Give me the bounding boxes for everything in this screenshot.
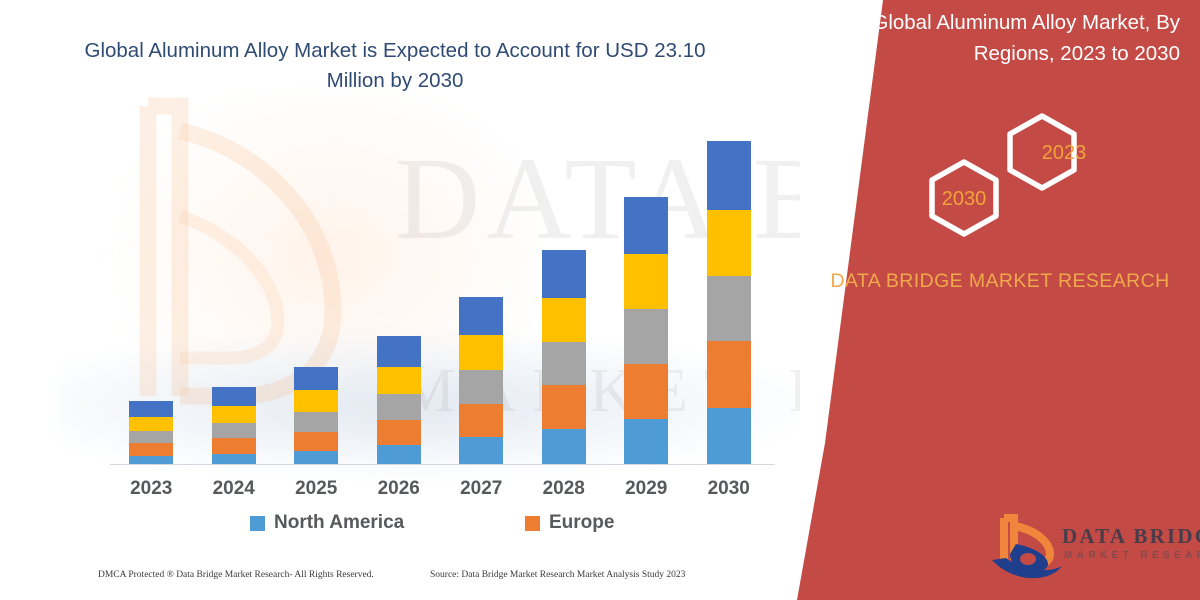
bar-segment-series-5 bbox=[707, 141, 751, 210]
legend-item-north-america[interactable]: North America bbox=[250, 512, 404, 534]
legend-label: North America bbox=[274, 512, 404, 534]
bar-segment-north-america bbox=[294, 451, 338, 465]
bar-segment-europe bbox=[707, 341, 751, 408]
chart-legend: North AmericaEurope bbox=[110, 512, 770, 540]
x-tick-2029: 2029 bbox=[606, 478, 686, 500]
bar-segment-series-3 bbox=[129, 431, 173, 444]
bar-segment-series-5 bbox=[294, 367, 338, 391]
bar-segment-europe bbox=[294, 432, 338, 452]
bar-segment-north-america bbox=[707, 408, 751, 465]
bar-segment-series-4 bbox=[459, 335, 503, 370]
bar-segment-series-3 bbox=[624, 309, 668, 363]
x-tick-2028: 2028 bbox=[524, 478, 604, 500]
bar-segment-europe bbox=[212, 438, 256, 454]
x-tick-2024: 2024 bbox=[194, 478, 274, 500]
bar-segment-europe bbox=[459, 404, 503, 437]
bar-2029 bbox=[624, 197, 668, 465]
bar-segment-series-3 bbox=[459, 370, 503, 403]
bar-segment-series-4 bbox=[294, 390, 338, 412]
bar-segment-series-4 bbox=[542, 298, 586, 342]
bar-segment-series-3 bbox=[377, 394, 421, 420]
bar-segment-north-america bbox=[542, 429, 586, 465]
footer: DMCA Protected ® Data Bridge Market Rese… bbox=[0, 566, 800, 592]
bar-segment-series-4 bbox=[129, 417, 173, 431]
stacked-bar-chart: 20232024202520262027202820292030 North A… bbox=[0, 0, 800, 600]
bar-segment-north-america bbox=[377, 445, 421, 465]
x-tick-2030: 2030 bbox=[689, 478, 769, 500]
bar-segment-series-3 bbox=[212, 423, 256, 439]
legend-swatch-icon bbox=[250, 516, 265, 531]
bar-2025 bbox=[294, 367, 338, 465]
bar-2024 bbox=[212, 387, 256, 465]
x-tick-2027: 2027 bbox=[441, 478, 521, 500]
hexagon-label-2023: 2023 bbox=[1020, 142, 1108, 165]
bar-segment-series-3 bbox=[542, 342, 586, 385]
infographic-canvas: DATA BRIDGE MARKET RESEARCH Global Alumi… bbox=[0, 0, 1200, 600]
legend-swatch-icon bbox=[525, 516, 540, 531]
chart-plot-area bbox=[110, 140, 770, 465]
logo-text-secondary: MARKET RESEARCH bbox=[1064, 550, 1200, 561]
bar-segment-series-5 bbox=[377, 336, 421, 367]
x-tick-2023: 2023 bbox=[111, 478, 191, 500]
bar-2023 bbox=[129, 401, 173, 465]
bar-segment-series-4 bbox=[377, 367, 421, 395]
bar-segment-series-5 bbox=[459, 297, 503, 335]
bar-2030 bbox=[707, 141, 751, 465]
red-banner-content: Global Aluminum Alloy Market, By Regions… bbox=[800, 0, 1200, 600]
bar-segment-europe bbox=[624, 364, 668, 419]
data-bridge-logo: DATA BRIDGE MARKET RESEARCH bbox=[990, 512, 1195, 584]
footer-source-text: Source: Data Bridge Market Research Mark… bbox=[430, 570, 685, 580]
hexagon-label-2030: 2030 bbox=[920, 188, 1008, 211]
bar-segment-series-3 bbox=[707, 276, 751, 341]
bar-2028 bbox=[542, 250, 586, 465]
legend-item-europe[interactable]: Europe bbox=[525, 512, 614, 534]
chart-panel: DATA BRIDGE MARKET RESEARCH Global Alumi… bbox=[0, 0, 800, 600]
bar-segment-series-5 bbox=[624, 197, 668, 254]
bar-segment-series-4 bbox=[624, 254, 668, 309]
bar-segment-series-3 bbox=[294, 412, 338, 432]
bar-segment-series-4 bbox=[707, 210, 751, 276]
bar-segment-series-5 bbox=[129, 401, 173, 417]
bar-segment-series-5 bbox=[212, 387, 256, 406]
hexagon-outlines-icon bbox=[920, 108, 1120, 240]
brand-name: DATA BRIDGE MARKET RESEARCH bbox=[820, 267, 1180, 295]
bar-segment-europe bbox=[542, 385, 586, 428]
bar-segment-europe bbox=[129, 443, 173, 456]
x-axis-tick-labels: 20232024202520262027202820292030 bbox=[110, 478, 770, 504]
bar-segment-north-america bbox=[459, 437, 503, 465]
bar-segment-north-america bbox=[624, 419, 668, 465]
x-axis-line bbox=[110, 464, 775, 465]
bar-segment-series-4 bbox=[212, 406, 256, 423]
legend-label: Europe bbox=[549, 512, 614, 534]
bar-2026 bbox=[377, 336, 421, 465]
bar-segment-europe bbox=[377, 420, 421, 446]
bar-2027 bbox=[459, 297, 503, 465]
hexagon-group: 2030 2023 bbox=[920, 108, 1120, 240]
banner-title: Global Aluminum Alloy Market, By Regions… bbox=[830, 8, 1180, 70]
x-tick-2026: 2026 bbox=[359, 478, 439, 500]
footer-dmca-text: DMCA Protected ® Data Bridge Market Rese… bbox=[98, 570, 374, 580]
x-tick-2025: 2025 bbox=[276, 478, 356, 500]
logo-text-primary: DATA BRIDGE bbox=[1062, 524, 1200, 549]
bar-segment-series-5 bbox=[542, 250, 586, 297]
